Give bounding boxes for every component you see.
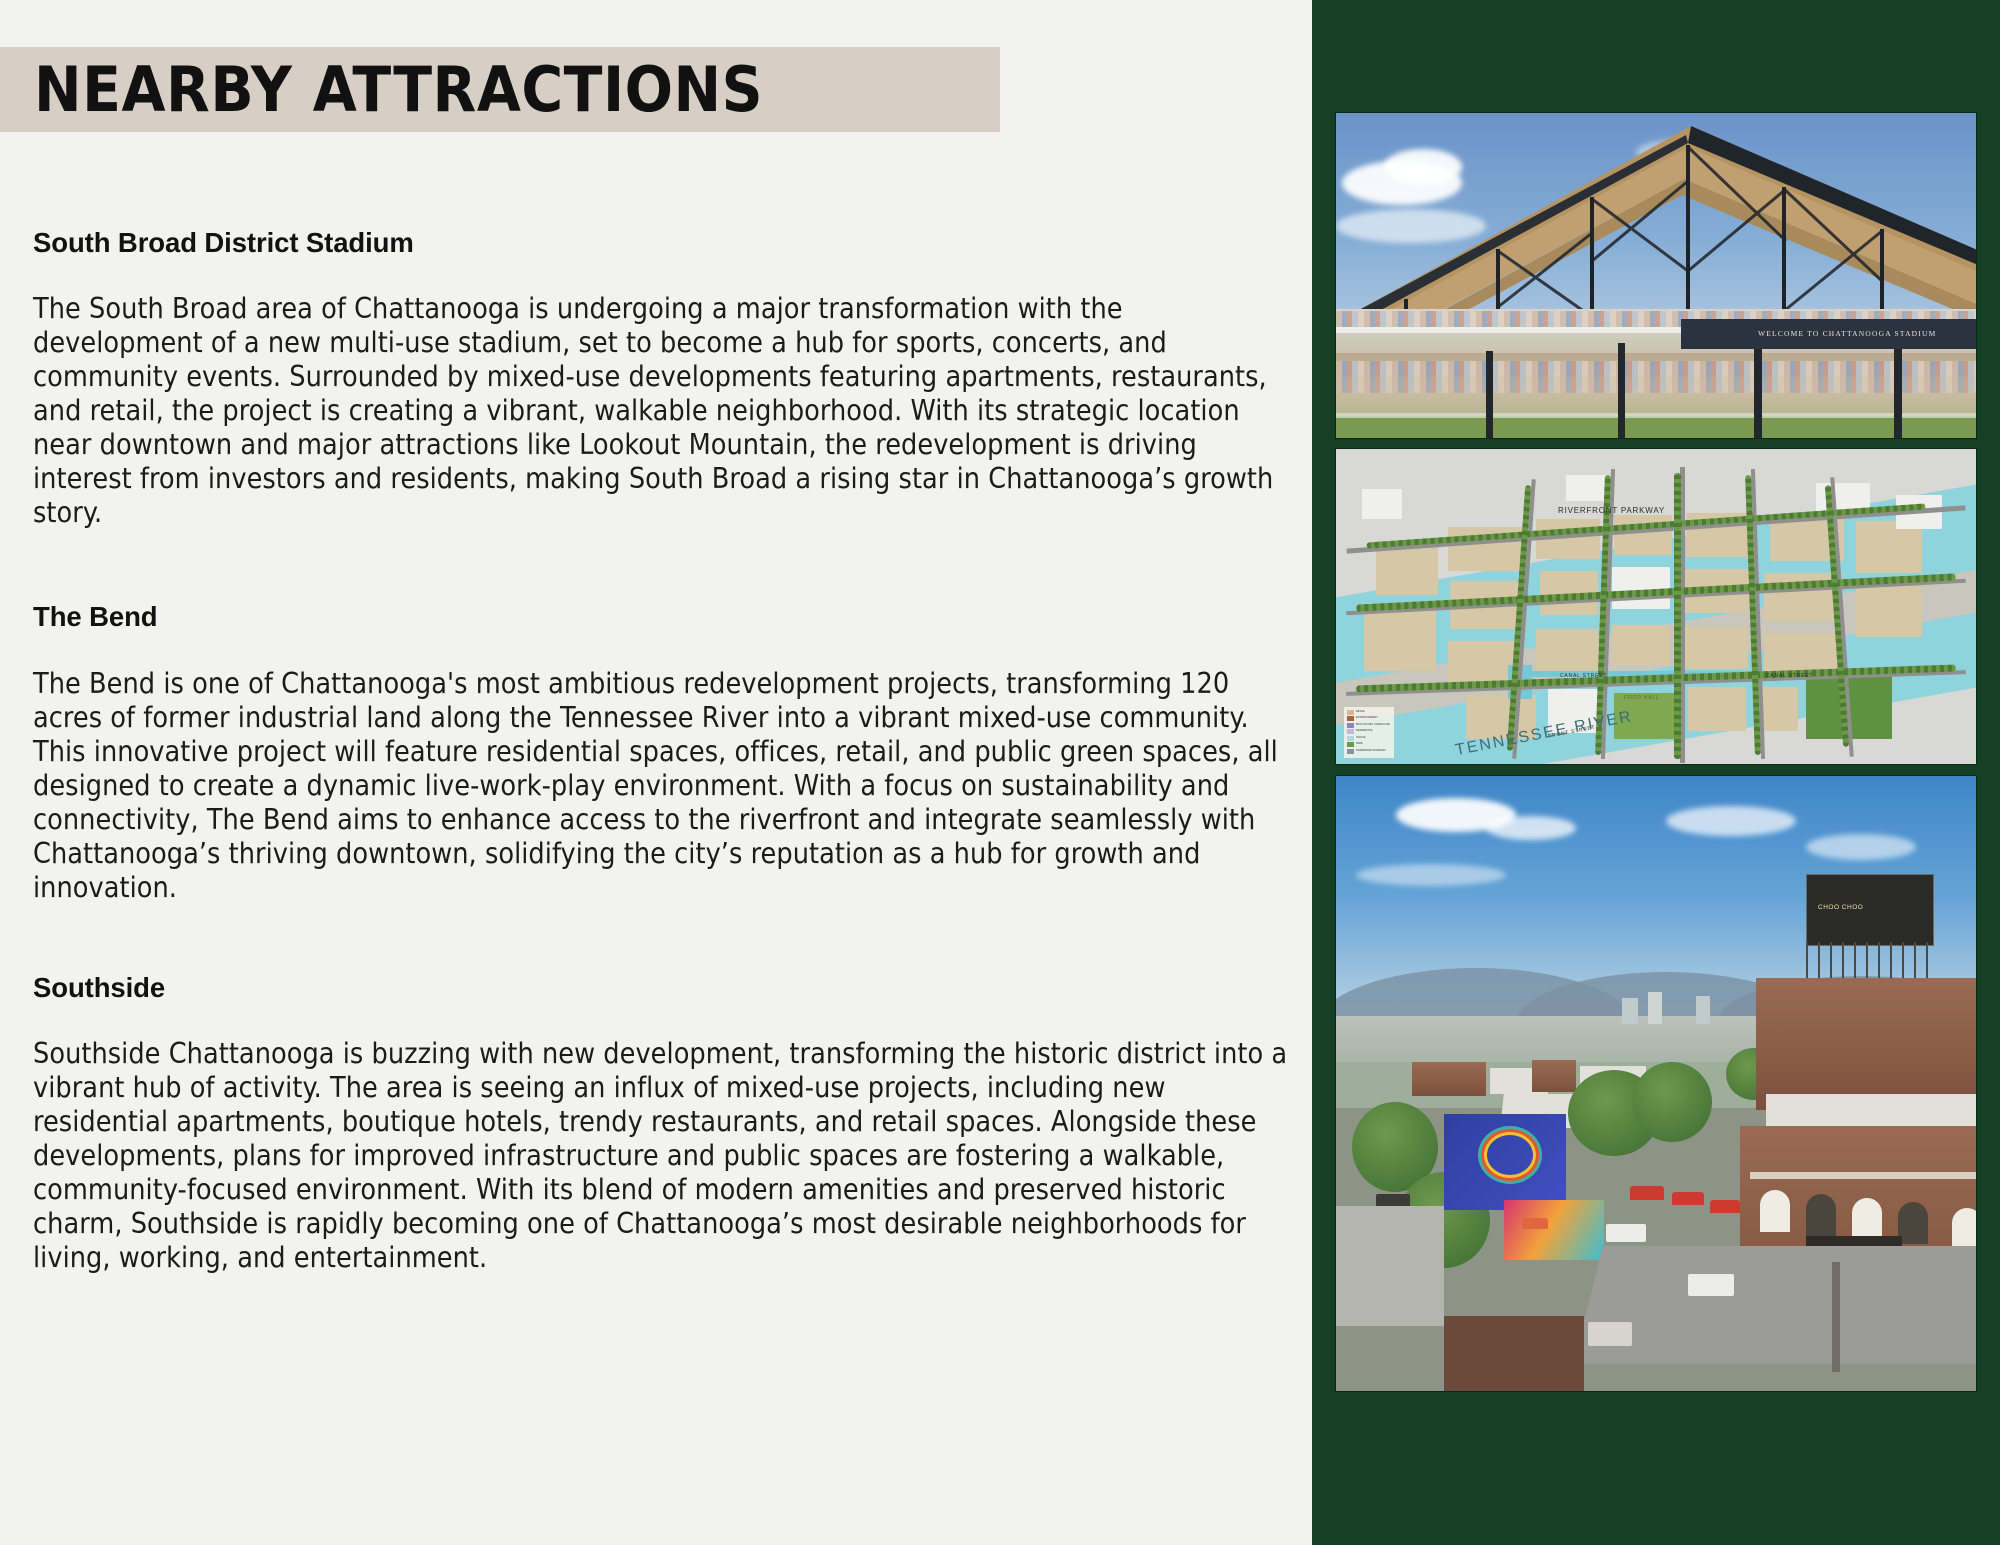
patio-umbrella: [1522, 1218, 1548, 1229]
cloud-icon: [1486, 816, 1576, 840]
map-legend-item: ENTERTAINMENT: [1347, 716, 1391, 721]
support-column: [1618, 343, 1625, 438]
stadium-signage-text: WELCOME TO CHATTANOOGA STADIUM: [1758, 329, 1936, 338]
content-column: NEARBY ATTRACTIONS South Broad District …: [0, 0, 1312, 1545]
section-spacer: [33, 530, 1295, 602]
image-gallery-panel: WELCOME TO CHATTANOOGA STADIUM: [1312, 0, 2000, 1545]
section-body: The South Broad area of Chattanooga is u…: [33, 292, 1295, 530]
distant-tower: [1648, 992, 1662, 1024]
map-label-food-hall: FOOD HALL: [1624, 695, 1660, 701]
cloud-icon: [1356, 864, 1506, 886]
midground-building: [1532, 1060, 1576, 1092]
map-legend-label: RETAIL: [1356, 711, 1365, 714]
map-legend-item: MULTI-STORY / MIXED USE: [1347, 723, 1391, 728]
cloud-icon: [1666, 806, 1796, 836]
southside-aerial-illustration: CHOO CHOO: [1336, 776, 1976, 1391]
vehicle: [1688, 1274, 1734, 1296]
arched-window: [1898, 1202, 1928, 1244]
map-street-trees: [1674, 473, 1681, 759]
page-title-banner: NEARBY ATTRACTIONS: [0, 47, 1000, 132]
arched-window: [1852, 1198, 1882, 1240]
support-column: [1754, 349, 1762, 438]
map-label-riverfront-parkway: RIVERFRONT PARKWAY: [1558, 506, 1665, 515]
gallery-image-southside-aerial: CHOO CHOO: [1335, 775, 1977, 1392]
section-body: Southside Chattanooga is buzzing with ne…: [33, 1037, 1295, 1275]
field-turf: [1336, 416, 1976, 438]
map-label-canal-street: CANAL STREET: [1560, 673, 1607, 679]
gallery-image-stadium-rendering: WELCOME TO CHATTANOOGA STADIUM: [1335, 112, 1977, 439]
map-legend-label: PARK: [1356, 743, 1363, 746]
parking-lot: [1336, 1206, 1444, 1326]
section-heading: Southside: [33, 973, 1295, 1003]
crowd-row: [1336, 377, 1976, 393]
map-label-canal-street: CANAL STREET: [1766, 673, 1813, 679]
street: [1573, 1246, 1976, 1364]
support-column: [1486, 351, 1493, 438]
map-legend-item: RIVERFRONT PARKWAY: [1347, 749, 1391, 754]
map-legend-label: OFFICE: [1356, 737, 1366, 740]
arched-window: [1760, 1190, 1790, 1232]
cloud-icon: [1806, 834, 1916, 860]
distant-tower: [1696, 996, 1710, 1024]
slide-root: NEARBY ATTRACTIONS South Broad District …: [0, 0, 2000, 1545]
building-cornice: [1750, 1172, 1976, 1179]
support-column: [1894, 349, 1902, 438]
section-body: The Bend is one of Chattanooga's most am…: [33, 667, 1295, 905]
historic-depot-building: [1756, 978, 1976, 1110]
choo-choo-sign-text: CHOO CHOO: [1818, 904, 1863, 911]
section-spacer: [33, 905, 1295, 973]
map-legend-label: RESIDENTIAL: [1356, 730, 1373, 733]
distant-tower: [1622, 998, 1638, 1024]
vehicle: [1606, 1224, 1646, 1242]
master-plan-map-illustration: RIVERFRONT PARKWAY CANAL STREET CANAL ST…: [1336, 449, 1976, 764]
section-heading: The Bend: [33, 602, 1295, 632]
gallery-image-the-bend-master-plan: RIVERFRONT PARKWAY CANAL STREET CANAL ST…: [1335, 448, 1977, 765]
map-legend-item: OFFICE: [1347, 736, 1391, 741]
section-southside: Southside Southside Chattanooga is buzzi…: [33, 973, 1295, 1275]
map-legend-label: ENTERTAINMENT: [1356, 717, 1378, 720]
map-legend: RETAIL ENTERTAINMENT MULTI-STORY / MIXED…: [1344, 707, 1394, 759]
crowd-row: [1336, 361, 1976, 377]
field-edge: [1336, 413, 1976, 418]
red-roof-building: [1444, 1316, 1584, 1391]
arched-window: [1806, 1194, 1836, 1236]
stadium-rendering-illustration: WELCOME TO CHATTANOOGA STADIUM: [1336, 113, 1976, 438]
patio-umbrella: [1630, 1186, 1664, 1200]
mural-wall-lower: [1504, 1200, 1604, 1260]
light-pole: [1832, 1262, 1840, 1372]
patio-umbrella: [1672, 1192, 1704, 1205]
midground-building: [1412, 1062, 1486, 1096]
page-title: NEARBY ATTRACTIONS: [34, 59, 763, 121]
section-south-broad-district-stadium: South Broad District Stadium The South B…: [33, 228, 1295, 530]
map-legend-item: RETAIL: [1347, 710, 1391, 715]
section-the-bend: The Bend The Bend is one of Chattanooga'…: [33, 602, 1295, 904]
map-legend-label: MULTI-STORY / MIXED USE: [1356, 724, 1390, 727]
map-legend-item: RESIDENTIAL: [1347, 729, 1391, 734]
map-legend-label: RIVERFRONT PARKWAY: [1356, 750, 1386, 753]
vehicle: [1588, 1322, 1632, 1346]
map-legend-item: PARK: [1347, 742, 1391, 747]
tree-icon: [1632, 1062, 1712, 1142]
section-heading: South Broad District Stadium: [33, 228, 1295, 258]
patio-umbrella: [1710, 1200, 1740, 1213]
mural-graphic: [1484, 1132, 1536, 1178]
sections-container: South Broad District Stadium The South B…: [33, 228, 1295, 1275]
